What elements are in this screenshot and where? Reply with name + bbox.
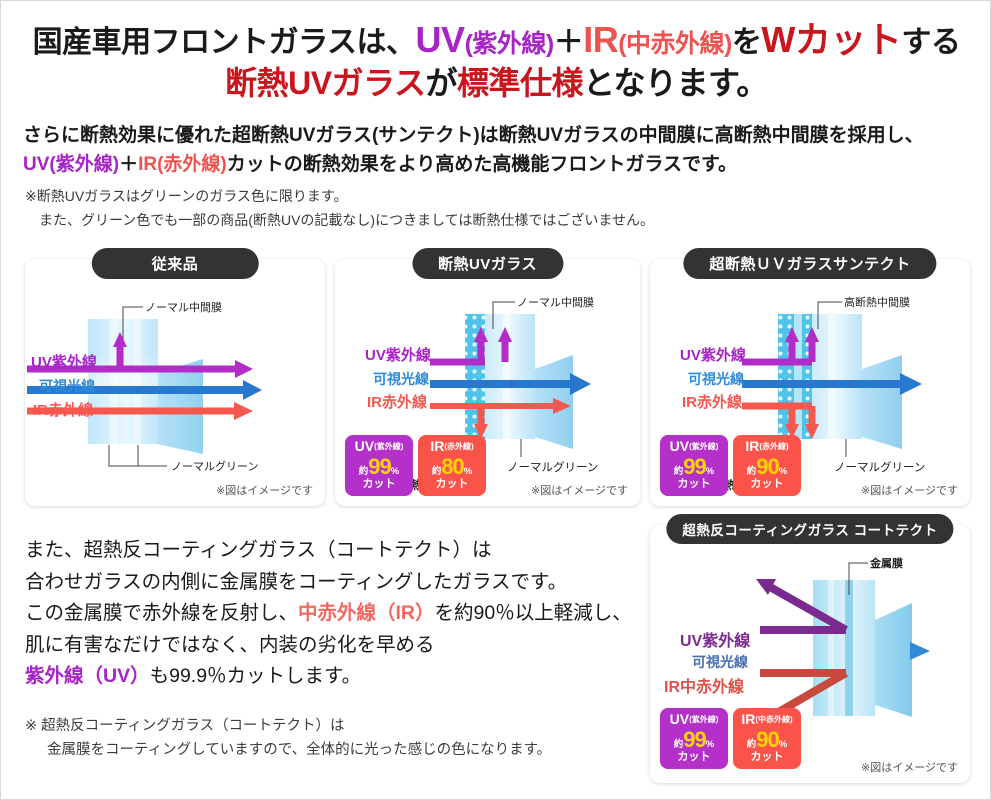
badge-uv-sub: (紫外線) <box>689 442 718 451</box>
lead-line-1: さらに断熱効果に優れた超断熱UVガラス(サンテクト)は断熱UVガラスの中間膜に高… <box>23 121 978 150</box>
badge-uv-value: 約99% <box>662 728 726 752</box>
badge-ir-percent: % <box>779 466 787 477</box>
cut-badges: UV(紫外線) 約99% カット IR(赤外線) 約90% カット <box>660 435 801 496</box>
badge-ir-value: 約80% <box>420 455 484 479</box>
image-note: ※図はイメージです <box>861 759 958 775</box>
note-bottom-line-1: ※ 超熱反コーティングガラス（コートテクト）は <box>25 718 345 734</box>
badge-ir-label: IR <box>745 438 759 454</box>
badge-ir-header: IR(中赤外線) <box>735 712 799 727</box>
badge-ir-number: 90 <box>756 727 778 752</box>
badge-uv: UV(紫外線) 約99% カット <box>345 435 413 496</box>
callout-right-label: ノーマルグリーン <box>834 460 925 474</box>
callout-line-bottom <box>109 445 167 466</box>
badge-ir-percent: % <box>779 739 787 750</box>
ray-label-uv: UV紫外線 <box>680 344 746 365</box>
badge-uv-label: UV <box>670 438 689 454</box>
badge-ir-sub: (中赤外線) <box>755 715 792 724</box>
badge-uv-approx: 約 <box>674 739 684 750</box>
badge-uv-approx: 約 <box>359 466 369 477</box>
cut-badges: UV(紫外線) 約99% カット IR(赤外線) 約80% カット <box>345 435 486 496</box>
ray-label-visible: 可視光線 <box>688 369 744 389</box>
lead-ir-label: IR(赤外線) <box>138 154 227 175</box>
lead-line-2-rest: カットの断熱効果をより高めた高機能フロントガラスです。 <box>227 154 737 175</box>
lead-plus: ＋ <box>119 154 138 175</box>
coattect-description: また、超熱反コーティングガラス（コートテクト）は 合わせガラスの内側に金属膜をコ… <box>25 535 645 693</box>
note-bottom-line-2: 金属膜をコーティングしていますので、全体的に光った感じの色になります。 <box>25 739 645 763</box>
badge-uv-value: 約99% <box>662 455 726 479</box>
headline-seg-suru: する <box>901 26 960 59</box>
ray-label-uv: UV紫外線 <box>365 344 431 365</box>
callout-top-label: ノーマル中間膜 <box>517 296 594 309</box>
badge-ir-cut: カット <box>735 479 799 491</box>
ray-label-ir: IR中赤外線 <box>664 673 744 697</box>
ray-label-visible: 可視光線 <box>373 369 429 389</box>
image-note: ※図はイメージです <box>531 482 628 498</box>
headline-seg-narimasu: となります。 <box>583 65 768 101</box>
ray-label-ir: IR赤外線 <box>33 399 93 420</box>
coattect-uv-highlight: 紫外線（UV） <box>25 665 150 687</box>
lead-line-2: UV(紫外線)＋IR(赤外線)カットの断熱効果をより高めた高機能フロントガラスで… <box>23 150 978 179</box>
badge-ir-sub: (赤外線) <box>444 442 473 451</box>
headline-seg-ir-jp: (中赤外線) <box>618 30 732 58</box>
badge-uv-label: UV <box>355 438 374 454</box>
coattect-line-5b: も99.9％カットします。 <box>150 665 362 687</box>
panel-uvcut: 断熱UVガラス <box>335 259 640 506</box>
headline-seg-uv: UV <box>416 19 465 60</box>
headline-seg-product: 断熱UVガラス <box>225 65 425 101</box>
ray-label-visible: 可視光線 <box>692 652 748 672</box>
badge-uv: UV(紫外線) 約99% カット <box>660 708 728 769</box>
badge-uv-header: UV(紫外線) <box>662 439 726 454</box>
badge-uv-percent: % <box>706 466 714 477</box>
badge-ir-label: IR <box>741 711 755 727</box>
panel-coattect: 超熱反コーティングガラス コートテクト <box>650 525 970 783</box>
coattect-line-4: 肌に有害なだけではなく、内装の劣化を早める <box>25 630 645 662</box>
headline-seg-wo: を <box>732 26 762 59</box>
coattect-line-3b: を約90％以上軽減し、 <box>435 602 632 624</box>
headline-seg-ga: が <box>425 65 457 101</box>
badge-uv-cut: カット <box>347 479 411 491</box>
badge-ir-cut: カット <box>420 479 484 491</box>
badge-ir-approx: 約 <box>747 466 757 477</box>
callout-bottom-label: ノーマルグリーン <box>171 459 258 473</box>
badge-ir-approx: 約 <box>432 466 442 477</box>
badge-uv-sub: (紫外線) <box>374 442 403 451</box>
cut-badges: UV(紫外線) 約99% カット IR(中赤外線) 約90% カット <box>660 708 801 769</box>
badge-uv-cut: カット <box>662 479 726 491</box>
ray-label-ir: IR赤外線 <box>367 391 427 412</box>
badge-uv-percent: % <box>706 739 714 750</box>
headline-seg-uv-jp: (紫外線) <box>465 30 554 58</box>
ray-label-uv: UV紫外線 <box>680 627 750 651</box>
badge-ir-header: IR(赤外線) <box>420 439 484 454</box>
note-bottom: ※ 超熱反コーティングガラス（コートテクト）は 金属膜をコーティングしていますの… <box>25 715 645 763</box>
badge-ir-number: 90 <box>756 454 778 479</box>
badge-uv-cut: カット <box>662 752 726 764</box>
coattect-line-5: 紫外線（UV）も99.9％カットします。 <box>25 661 645 693</box>
badge-ir-value: 約90% <box>735 455 799 479</box>
badge-uv-header: UV(紫外線) <box>347 439 411 454</box>
note-top-line-2: また、グリーン色でも一部の商品(断熱UVの記載なし)につきましては断熱仕様ではご… <box>25 209 975 233</box>
badge-uv: UV(紫外線) 約99% カット <box>660 435 728 496</box>
image-note: ※図はイメージです <box>216 482 313 498</box>
badge-uv-number: 99 <box>368 454 390 479</box>
badge-ir-percent: % <box>464 466 472 477</box>
badge-ir: IR(赤外線) 約80% カット <box>418 435 486 496</box>
badge-uv-percent: % <box>391 466 399 477</box>
image-note: ※図はイメージです <box>861 482 958 498</box>
panel-conventional: 従来品 <box>25 259 325 506</box>
badge-ir-sub: (赤外線) <box>759 442 788 451</box>
infographic-page: 国産車用フロントガラスは、UV(紫外線)＋IR(中赤外線)をWカットする 断熱U… <box>0 0 991 800</box>
callout-top-label: 金属膜 <box>869 556 903 570</box>
callout-top-label: 高断熱中間膜 <box>844 295 910 309</box>
badge-ir-cut: カット <box>735 752 799 764</box>
headline-line-1: 国産車用フロントガラスは、UV(紫外線)＋IR(中赤外線)をWカットする <box>1 19 991 61</box>
badge-ir-value: 約90% <box>735 728 799 752</box>
badge-ir-header: IR(赤外線) <box>735 439 799 454</box>
coattect-line-2: 合わせガラスの内側に金属膜をコーティングしたガラスです。 <box>25 567 645 599</box>
callout-right-label: ノーマルグリーン <box>507 460 598 474</box>
badge-uv-number: 99 <box>683 454 705 479</box>
ray-label-visible: 可視光線 <box>39 376 95 396</box>
badge-uv-number: 99 <box>683 727 705 752</box>
badge-uv-label: UV <box>670 711 689 727</box>
headline-line-2: 断熱UVガラスが標準仕様となります。 <box>1 65 991 103</box>
badge-ir-number: 80 <box>441 454 463 479</box>
badge-ir-approx: 約 <box>747 739 757 750</box>
coattect-line-3: この金属膜で赤外線を反射し、中赤外線（IR）を約90％以上軽減し、 <box>25 598 645 630</box>
coattect-ir-highlight: 中赤外線（IR） <box>298 602 435 624</box>
headline-seg-plus: ＋ <box>554 26 584 59</box>
headline-seg-wcut: Wカット <box>761 19 901 60</box>
badge-uv-header: UV(紫外線) <box>662 712 726 727</box>
callout-top-label: ノーマル中間膜 <box>145 301 222 314</box>
note-top: ※断熱UVガラスはグリーンのガラス色に限ります。 また、グリーン色でも一部の商品… <box>25 185 975 233</box>
ray-label-uv: UV紫外線 <box>31 351 97 372</box>
page-title: 国産車用フロントガラスは、UV(紫外線)＋IR(中赤外線)をWカットする 断熱U… <box>1 19 991 103</box>
coattect-line-3a: この金属膜で赤外線を反射し、 <box>25 602 298 624</box>
ray-label-ir: IR赤外線 <box>682 391 742 412</box>
lead-paragraph: さらに断熱効果に優れた超断熱UVガラス(サンテクト)は断熱UVガラスの中間膜に高… <box>23 121 978 180</box>
lead-uv-label: UV(紫外線) <box>23 154 119 175</box>
badge-uv-value: 約99% <box>347 455 411 479</box>
badge-ir: IR(赤外線) 約90% カット <box>733 435 801 496</box>
badge-uv-sub: (紫外線) <box>689 715 718 724</box>
badge-ir: IR(中赤外線) 約90% カット <box>733 708 801 769</box>
headline-seg-ir: IR <box>583 19 618 60</box>
headline-seg-standard: 標準仕様 <box>457 65 583 101</box>
panel-suntect: 超断熱ＵＶガラスサンテクト <box>650 259 970 506</box>
coattect-line-1: また、超熱反コーティングガラス（コートテクト）は <box>25 535 645 567</box>
badge-uv-approx: 約 <box>674 466 684 477</box>
note-top-line-1: ※断熱UVガラスはグリーンのガラス色に限ります。 <box>25 188 348 204</box>
badge-ir-label: IR <box>430 438 444 454</box>
headline-seg-intro: 国産車用フロントガラスは、 <box>33 26 416 59</box>
